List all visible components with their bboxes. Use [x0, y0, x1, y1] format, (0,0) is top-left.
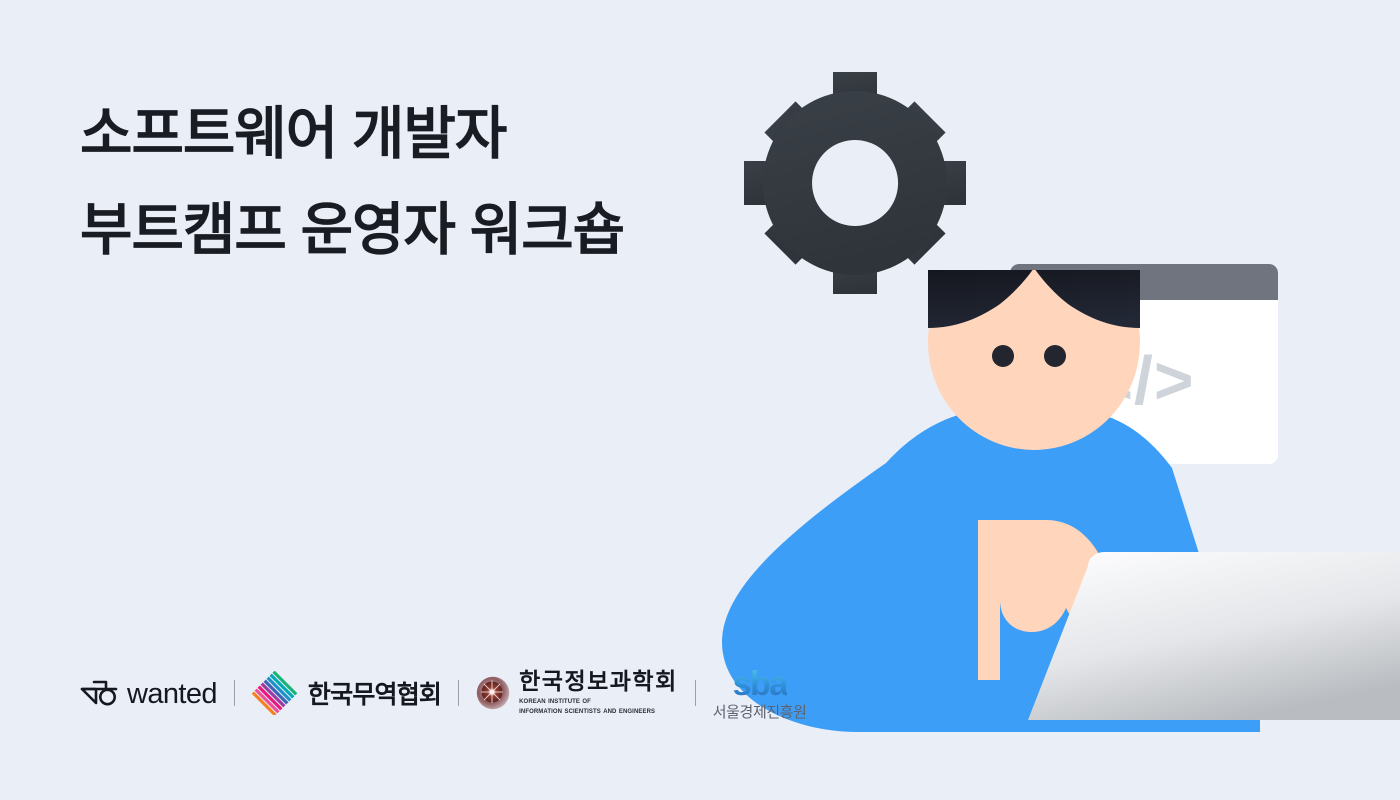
logo-kita[interactable]: 한국무역협회: [252, 671, 441, 715]
laptop-lid: [1028, 552, 1400, 720]
person-eye-right: [1044, 345, 1066, 367]
sba-subtitle: 서울경제진흥원: [713, 705, 807, 720]
headline-line-1: 소프트웨어 개발자: [80, 86, 780, 182]
logo-wanted[interactable]: wanted: [80, 677, 217, 710]
wanted-wordmark: wanted: [127, 678, 217, 711]
logo-kiise[interactable]: 한국정보과학회 Korean Institute of Information …: [476, 670, 678, 716]
kiise-text-block: 한국정보과학회 Korean Institute of Information …: [519, 670, 678, 716]
wanted-mark-icon: [80, 678, 118, 708]
kiise-subtitle-line-2: Information Scientists and Engineers: [519, 706, 678, 716]
logo-separator-2: [458, 680, 459, 706]
banner-canvas: 소프트웨어 개발자 부트캠프 운영자 워크숍 </>: [0, 0, 1400, 800]
kiise-wordmark: 한국정보과학회: [519, 670, 678, 693]
kiise-emblem-icon: [476, 676, 510, 710]
sba-wordmark: sba: [733, 667, 787, 701]
gear-icon: [744, 72, 966, 294]
logo-separator-3: [695, 680, 696, 706]
logo-separator-1: [234, 680, 235, 706]
kita-diamond-mark-icon: [252, 671, 298, 715]
page-title: 소프트웨어 개발자 부트캠프 운영자 워크숍: [80, 86, 780, 278]
kita-wordmark: 한국무역협회: [308, 675, 441, 711]
headline-line-2: 부트캠프 운영자 워크숍: [80, 182, 780, 278]
kiise-subtitle-line-1: Korean Institute of: [519, 696, 678, 706]
person-eye-left: [992, 345, 1014, 367]
partner-logo-strip: wanted 한국무역협회: [80, 662, 807, 724]
logo-sba[interactable]: sba 서울경제진흥원: [713, 667, 807, 720]
